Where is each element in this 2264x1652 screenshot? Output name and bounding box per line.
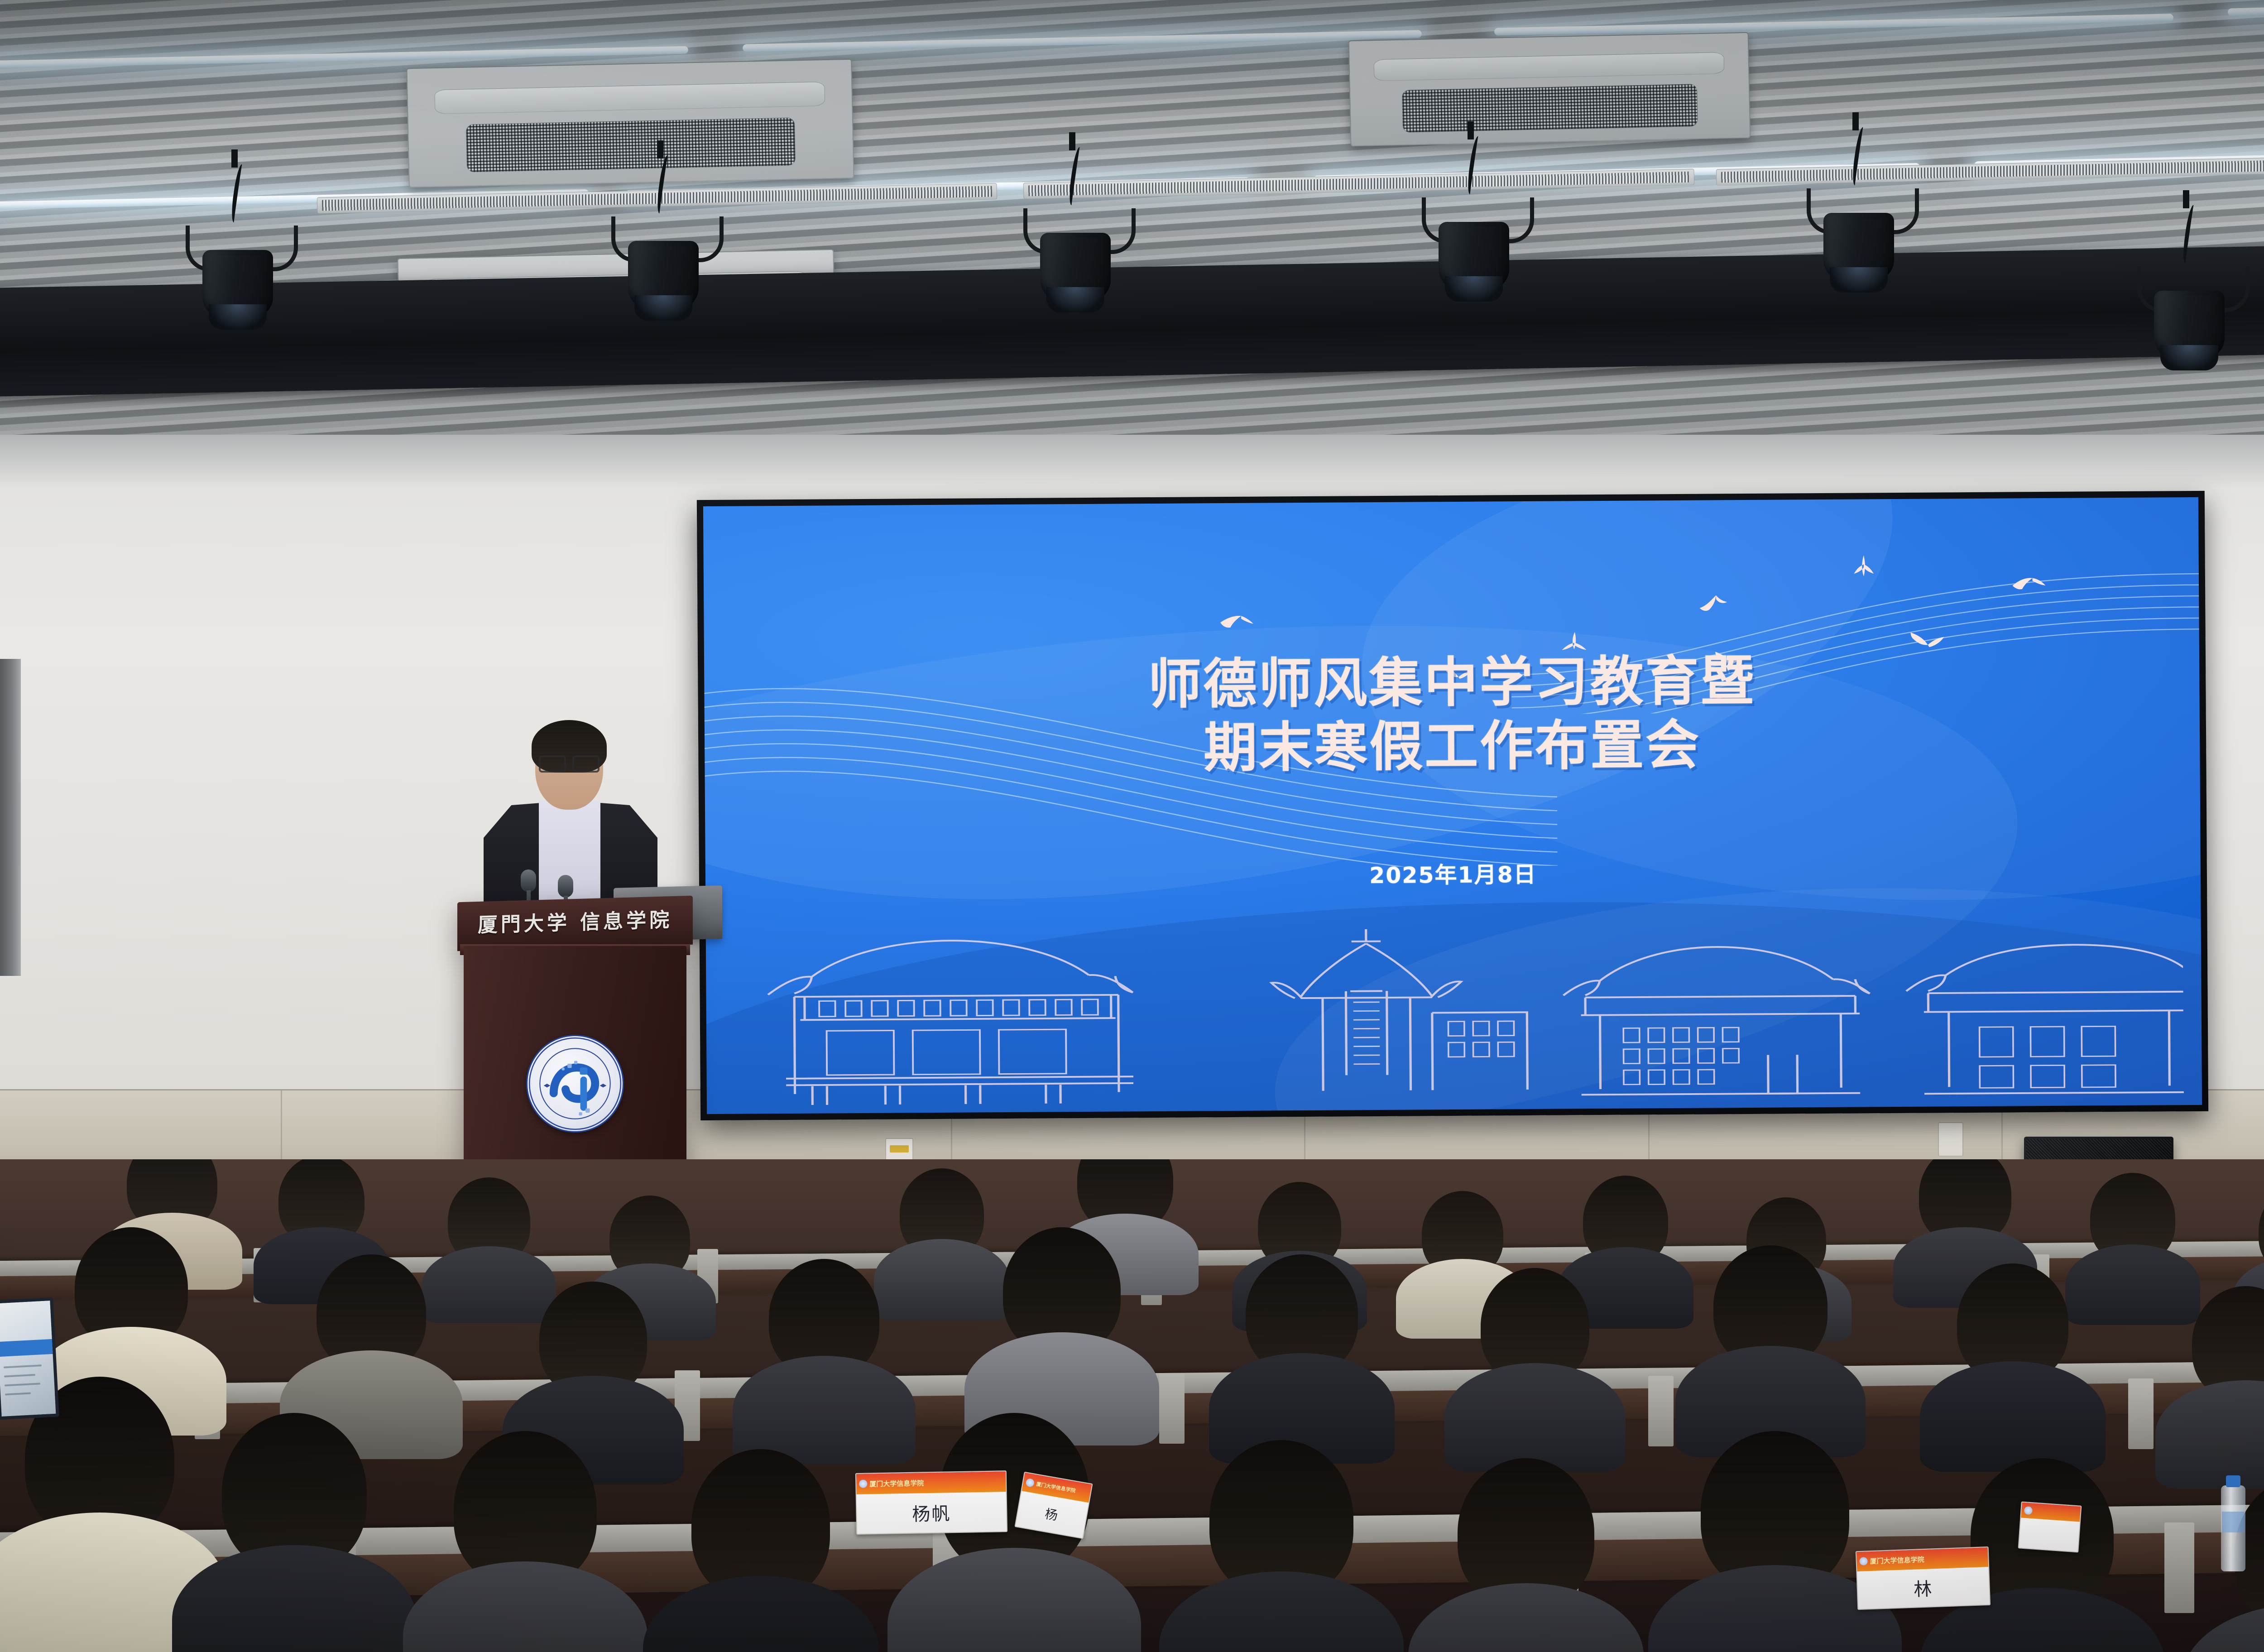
water-bottle — [2221, 1485, 2245, 1571]
spotlight-hanger — [1468, 121, 1474, 139]
led-screen: 师德师风集中学习教育暨 期末寒假工作布置会 2025年1月8日 — [703, 497, 2202, 1114]
spotlight-lens — [209, 304, 267, 330]
flying-bird-icon — [1220, 609, 1256, 637]
audience-member — [403, 1431, 648, 1652]
screen-title: 师德师风集中学习教育暨 期末寒假工作布置会 — [704, 646, 2200, 783]
audience-seating-area: 厦门大学信息学院 杨帆 厦门大学信息学院 杨 厦门大学信息学院 林 — [0, 1159, 2264, 1652]
placard-name: 杨帆 — [857, 1492, 1007, 1534]
audience-member — [2155, 1286, 2264, 1467]
stage-spotlight — [2137, 258, 2241, 376]
laptop-title-bar — [0, 1339, 53, 1357]
stage-spotlight — [1023, 200, 1127, 318]
screen-title-line-1: 师德师风集中学习教育暨 — [704, 646, 2200, 720]
audience-laptop[interactable] — [0, 1297, 59, 1420]
audience-member — [1675, 1245, 1866, 1436]
wall-outlet[interactable] — [1938, 1122, 1963, 1157]
name-placard: 厦门大学信息学院 杨帆 — [855, 1470, 1007, 1535]
campus-buildings-line-art — [724, 920, 2184, 1111]
audience-member — [964, 1227, 1159, 1426]
spotlight-lens — [1445, 276, 1503, 302]
stage-spotlight — [186, 217, 290, 335]
placard-org: 厦门大学信息学院 — [1870, 1555, 1924, 1566]
spotlight-lens — [2160, 345, 2219, 370]
flying-bird-icon — [2012, 571, 2046, 597]
placard-org: 厦门大学信息学院 — [869, 1478, 924, 1489]
name-placard: 厦门大学信息学院 杨 — [1014, 1472, 1093, 1539]
led-screen-bezel: 师德师风集中学习教育暨 期末寒假工作布置会 2025年1月8日 — [697, 491, 2208, 1120]
audience-member — [1648, 1431, 1902, 1652]
placard-seal-icon — [2024, 1506, 2033, 1515]
spotlight-hanger — [1852, 112, 1859, 130]
stage-spotlight — [1807, 180, 1911, 298]
placard-header: 厦门大学信息学院 — [856, 1471, 1006, 1494]
audience-member — [1209, 1254, 1395, 1440]
door-jamb — [0, 659, 21, 976]
spotlight-hanger — [1069, 132, 1075, 150]
podium: 厦門大学 信息学院 in — [457, 899, 693, 1189]
placard-org: 厦门大学信息学院 — [1036, 1480, 1076, 1494]
audience-member — [1159, 1440, 1404, 1652]
desk-divider — [2128, 1378, 2154, 1449]
stage-spotlight — [611, 208, 715, 326]
spotlight-hanger — [2183, 190, 2189, 208]
audience-member — [1920, 1263, 2106, 1449]
audience-member — [1408, 1458, 1644, 1652]
glasses-icon — [539, 755, 600, 769]
placard-seal-icon — [1025, 1478, 1035, 1488]
desk-divider — [1159, 1373, 1185, 1444]
screen-title-line-2: 期末寒假工作布置会 — [705, 710, 2200, 783]
spotlight-hanger — [657, 140, 663, 158]
school-logo: in — [526, 1035, 624, 1133]
placard-name: 林 — [1857, 1567, 1990, 1609]
placard-seal-icon — [1859, 1557, 1868, 1566]
audience-member — [172, 1413, 417, 1652]
placard-name — [2019, 1518, 2080, 1552]
spotlight-hanger — [231, 149, 238, 168]
spotlight-lens — [1830, 267, 1888, 293]
name-placard — [2018, 1501, 2082, 1552]
audience-member — [281, 1254, 462, 1436]
name-placard: 厦门大学信息学院 林 — [1856, 1546, 1991, 1610]
placard-seal-icon — [859, 1480, 867, 1488]
stage-spotlight — [1422, 189, 1526, 307]
flying-bird-icon — [1847, 548, 1880, 588]
flying-bird-icon — [1698, 588, 1736, 620]
spotlight-lens — [634, 295, 693, 321]
spotlight-lens — [1046, 287, 1105, 312]
audience-member — [1444, 1268, 1626, 1449]
lecture-hall-photo: BOSE — [0, 0, 2264, 1652]
audience-member — [643, 1449, 878, 1652]
